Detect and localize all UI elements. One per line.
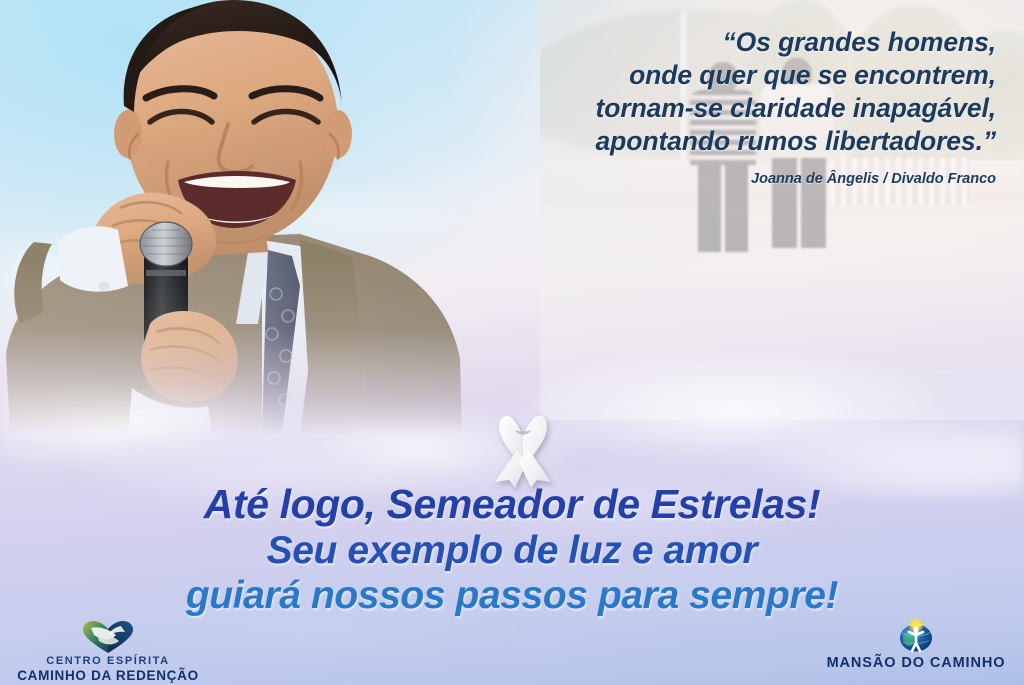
logo-left-line-2: CAMINHO DA REDENÇÃO (8, 668, 208, 683)
white-ribbon-icon (487, 410, 559, 488)
headline-line-2: Seu exemplo de luz e amor (0, 531, 1024, 571)
logo-left-line-1: CENTRO ESPÍRITA (8, 655, 208, 667)
memorial-poster: “Os grandes homens, onde quer que se enc… (0, 0, 1024, 685)
headline-line-1: Até logo, Semeador de Estrelas! (0, 484, 1024, 526)
portrait-divaldo (0, 0, 470, 434)
quote-line-1: “Os grandes homens, (436, 26, 996, 59)
logo-mansao-do-caminho: MANSÃO DO CAMINHO (816, 618, 1016, 671)
quote-line-4: apontando rumos libertadores.” (436, 125, 996, 158)
globe-figure-star-icon (816, 618, 1016, 652)
quote-line-3: tornam-se claridade inapagável, (436, 92, 996, 125)
quote-line-2: onde quer que se encontrem, (436, 59, 996, 92)
quote-attribution: Joanna de Ângelis / Divaldo Franco (436, 171, 996, 187)
logo-centro-espirita: CENTRO ESPÍRITA CAMINHO DA REDENÇÃO (8, 620, 208, 683)
heart-hands-icon (8, 620, 208, 654)
headline-line-3: guiará nossos passos para sempre! (0, 576, 1024, 616)
headline-block: Até logo, Semeador de Estrelas! Seu exem… (0, 484, 1024, 615)
quote-block: “Os grandes homens, onde quer que se enc… (436, 26, 996, 187)
logo-right-line-1: MANSÃO DO CAMINHO (816, 655, 1016, 671)
